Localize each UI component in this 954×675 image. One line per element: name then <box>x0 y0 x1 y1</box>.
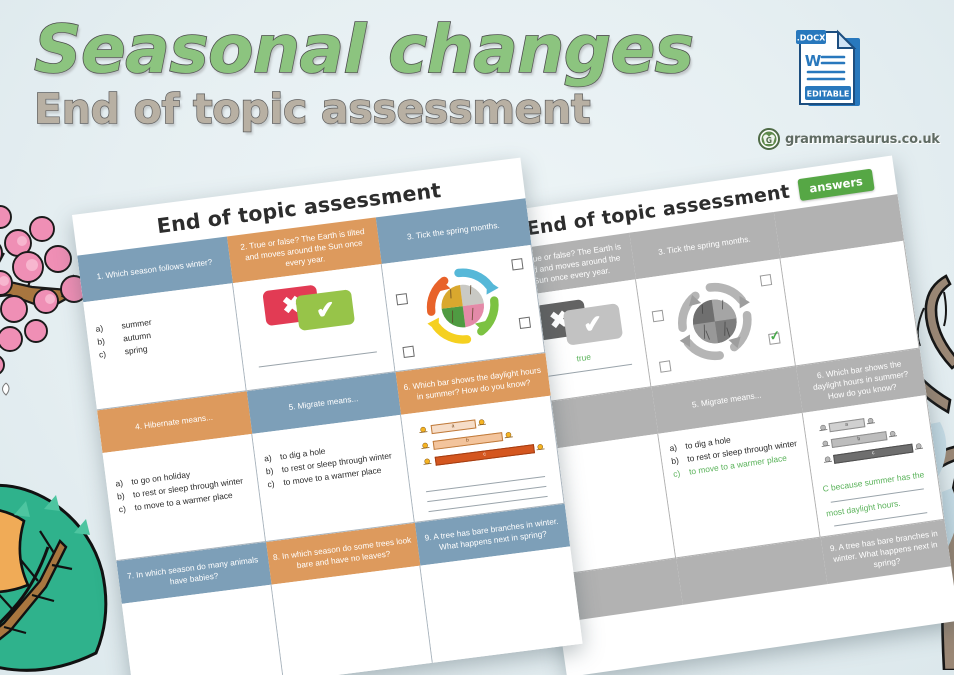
true-false-speech-bubbles-icon: ✖ ✔ <box>263 280 360 337</box>
qbody-5-options[interactable]: a)to dig a hole b)to rest or sleep throu… <box>252 415 415 542</box>
checkbox-4[interactable] <box>519 317 531 329</box>
bar-b: b <box>831 432 888 449</box>
qbody-6-bars[interactable]: a b c <box>401 396 564 523</box>
page-title: Seasonal changes <box>34 18 694 83</box>
true-false-speech-bubbles-icon: ✖ ✔ <box>530 294 628 353</box>
answer-line[interactable] <box>258 352 377 368</box>
brand-name: grammarsaurus.co.uk <box>785 132 940 147</box>
grammarsaurus-monogram-icon: G <box>758 128 780 150</box>
svg-text:G: G <box>766 136 772 145</box>
answers-qbody-empty-a <box>780 241 919 367</box>
page-subtitle: End of topic assessment <box>34 89 694 130</box>
qbody-4-options[interactable]: a)to go on holiday b)to rest or sleep th… <box>103 434 266 561</box>
checkbox-2[interactable] <box>760 274 772 286</box>
docx-file-icon[interactable]: .DOCX W EDITABLE <box>795 28 865 114</box>
qbody-3-wheel[interactable] <box>382 245 545 372</box>
qbody-8-blank[interactable] <box>271 566 434 675</box>
question-grid: 1. Which season follows winter? 2. True … <box>77 198 582 675</box>
svg-text:W: W <box>805 52 822 70</box>
svg-text:EDITABLE: EDITABLE <box>807 90 850 99</box>
bar-c: c <box>833 444 914 464</box>
grammarsaurus-logo[interactable]: G grammarsaurus.co.uk <box>758 128 940 150</box>
poster-canvas: End of topic assessment answers 2. True … <box>0 0 954 675</box>
qbody-1-options[interactable]: a)summer b)autumn c)spring <box>83 283 246 410</box>
checkbox-2[interactable] <box>511 258 523 270</box>
bar-a: a <box>430 420 476 435</box>
bar-b: b <box>432 432 502 450</box>
answers-qbody-wheel[interactable]: ✓ <box>636 259 796 388</box>
checkbox-3[interactable] <box>403 346 415 358</box>
qbody-2-truefalse[interactable]: ✖ ✔ <box>233 264 396 391</box>
svg-text:.DOCX: .DOCX <box>797 34 826 43</box>
answer-text-line-2: most daylight hours. <box>825 492 932 519</box>
seasons-wheel-icon <box>392 254 534 362</box>
question-worksheet[interactable]: End of topic assessment 1. Which season … <box>72 158 583 675</box>
answers-question-grid: 2. True or false? The Earth is tilted an… <box>506 194 952 623</box>
qbody-9-blank[interactable] <box>421 547 583 669</box>
answers-qbody-bars[interactable]: a b c C because summer has the most dayl… <box>803 395 945 537</box>
seasons-wheel-icon: ✓ <box>646 268 785 377</box>
checkbox-1[interactable] <box>396 293 408 305</box>
bar-a: a <box>828 419 865 433</box>
checkbox-3[interactable] <box>659 360 671 372</box>
answers-badge: answers <box>797 169 875 202</box>
tick-mark-icon: ✓ <box>768 325 782 346</box>
checkbox-1[interactable] <box>652 310 664 322</box>
answers-qbody-migrate[interactable]: a)to dig a hole b)to rest or sleep throu… <box>658 413 820 558</box>
daylight-hours-bars-icon: a b c <box>412 407 550 485</box>
title-block: Seasonal changes End of topic assessment <box>34 18 694 130</box>
